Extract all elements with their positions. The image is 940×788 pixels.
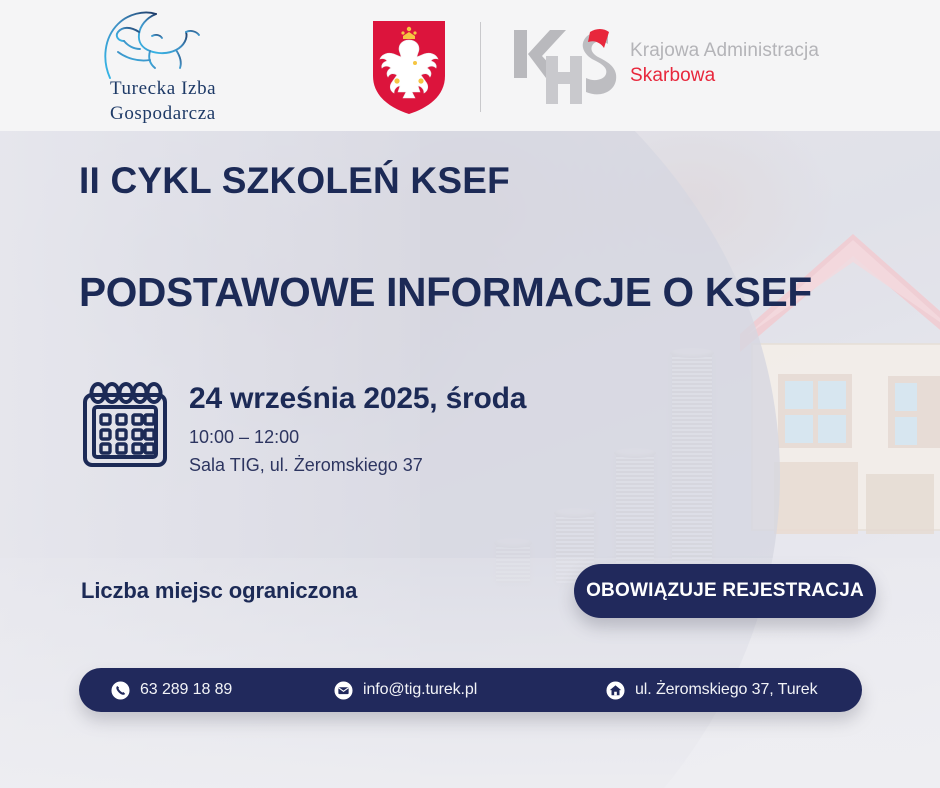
home-icon	[606, 681, 625, 700]
contact-email[interactable]: info@tig.turek.pl	[334, 681, 477, 700]
kas-monogram-icon	[512, 26, 620, 106]
kas-logo-line2: Skarbowa	[630, 63, 819, 88]
kas-logo-text: Krajowa Administracja Skarbowa	[630, 38, 819, 88]
calendar-icon	[79, 379, 171, 471]
phone-icon	[111, 681, 130, 700]
tig-logo-line1: Turecka Izba	[110, 76, 270, 101]
event-text-group: 24 września 2025, środa 10:00 – 12:00 Sa…	[189, 379, 526, 479]
bull-head-icon	[92, 8, 212, 80]
contact-address[interactable]: ul. Żeromskiego 37, Turek	[606, 681, 817, 700]
contact-phone[interactable]: 63 289 18 89	[111, 681, 232, 700]
logo-header-band: Turecka Izba Gospodarcza	[0, 0, 940, 131]
limited-seats-note: Liczba miejsc ograniczona	[81, 578, 357, 604]
contact-bar: 63 289 18 89 info@tig.turek.pl ul. Żerom…	[79, 668, 862, 712]
contact-email-value: info@tig.turek.pl	[363, 681, 477, 699]
kas-logo: Krajowa Administracja Skarbowa	[512, 26, 862, 108]
tig-logo-text: Turecka Izba Gospodarcza	[110, 76, 270, 126]
contact-phone-value: 63 289 18 89	[140, 681, 232, 699]
kas-logo-line1: Krajowa Administracja	[630, 38, 819, 63]
event-place: Sala TIG, ul. Żeromskiego 37	[189, 451, 526, 479]
event-time: 10:00 – 12:00	[189, 423, 526, 451]
polish-coat-of-arms-icon	[370, 18, 448, 116]
event-poster: Turecka Izba Gospodarcza	[0, 0, 940, 788]
tig-logo: Turecka Izba Gospodarcza	[82, 8, 262, 126]
registration-button[interactable]: OBOWIĄZUJE REJESTRACJA	[574, 564, 876, 618]
event-details: 24 września 2025, środa 10:00 – 12:00 Sa…	[79, 379, 526, 479]
page-title: PODSTAWOWE INFORMACJE O KSEF	[79, 269, 812, 316]
tig-logo-line2: Gospodarcza	[110, 101, 270, 126]
series-title: II CYKL SZKOLEŃ KSEF	[79, 160, 510, 202]
contact-address-value: ul. Żeromskiego 37, Turek	[635, 681, 817, 699]
envelope-icon	[334, 681, 353, 700]
logo-divider	[480, 22, 481, 112]
event-date: 24 września 2025, środa	[189, 381, 526, 417]
